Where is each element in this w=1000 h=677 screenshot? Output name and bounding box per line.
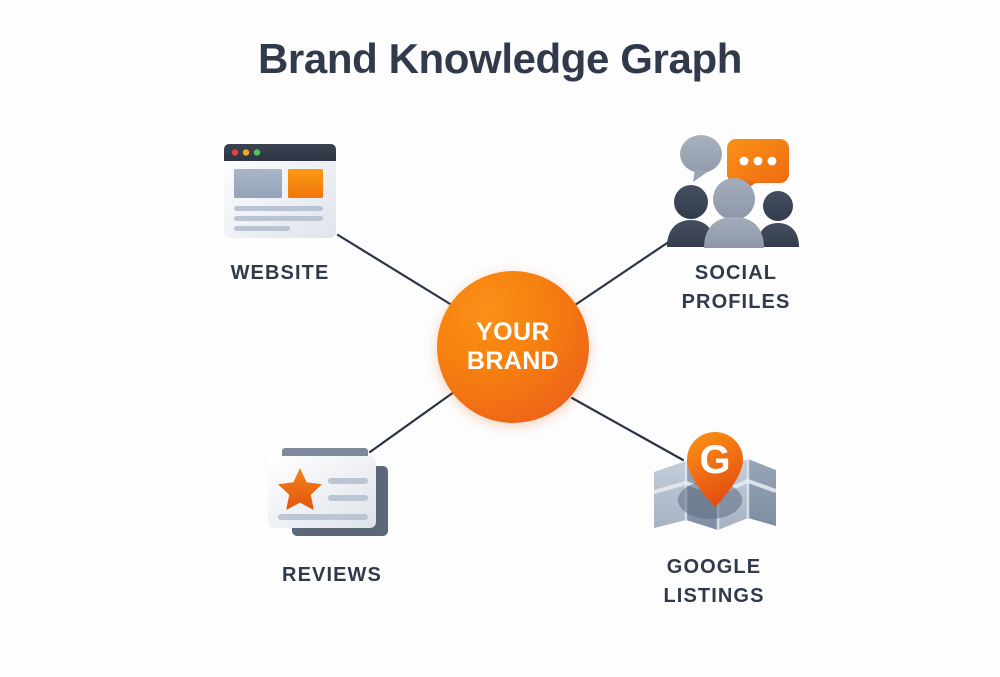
review-text-line-2 [328,495,368,501]
grey-speech-bubble [680,135,722,182]
node-label-reviews: REVIEWS [232,561,432,590]
traffic-dot-yellow [243,149,249,155]
person-right [757,191,799,247]
node-label-social-profiles: SOCIAL PROFILES [632,259,840,317]
bubble-dot-3 [768,157,777,166]
center-node-label: YOUR BRAND [437,271,589,423]
diagram-canvas: Brand Knowledge Graph [0,0,1000,677]
review-cards-icon [264,442,392,542]
bubble-dot-1 [740,157,749,166]
browser-accent-block [288,169,323,198]
center-label-line-1: YOUR [476,318,550,348]
center-node-your-brand[interactable]: YOUR BRAND [437,271,589,423]
review-text-line-1 [328,478,368,484]
pin-g-glyph: G [699,438,730,482]
review-text-line-3 [278,514,368,520]
map-pin-icon: G [650,428,780,538]
browser-text-line-1 [234,206,323,211]
node-label-website: WEBSITE [180,259,380,288]
browser-text-line-3 [234,226,290,231]
browser-image-block [234,169,282,198]
browser-window-icon [222,140,340,245]
browser-text-line-2 [234,216,323,221]
center-label-line-2: BRAND [467,347,559,377]
bubble-dot-2 [754,157,763,166]
traffic-dot-green [254,149,260,155]
traffic-dot-red [232,149,238,155]
page-title: Brand Knowledge Graph [0,36,1000,82]
people-group-icon [665,130,805,248]
person-center [704,178,764,248]
node-label-google-listings: GOOGLE LISTINGS [614,553,814,611]
